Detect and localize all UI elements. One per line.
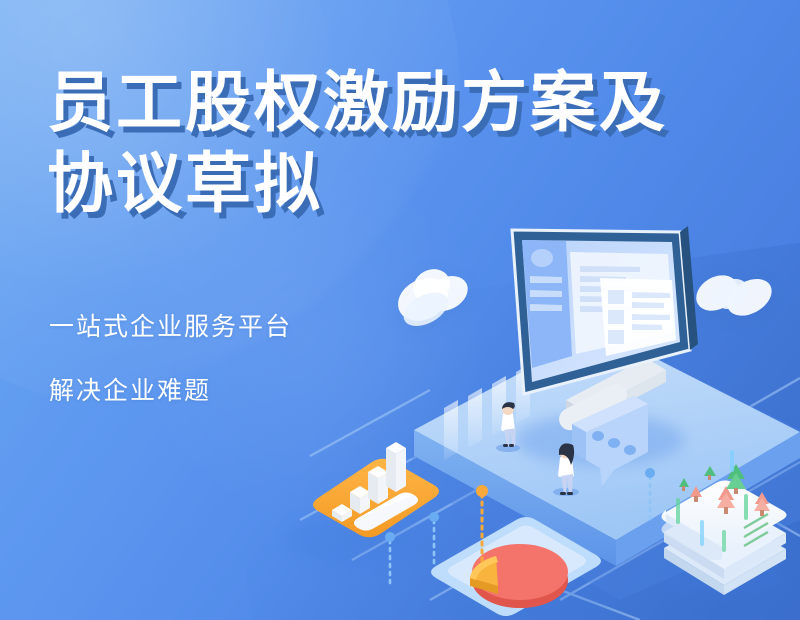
connector-node-blue-2 [429,512,439,522]
connector-node-orange [476,485,488,497]
connector-node-blue-3 [645,468,655,478]
pie-chart [470,544,568,608]
promo-banner: 员工股权激励方案及 协议草拟 一站式企业服务平台 解决企业难题 [0,0,800,620]
page-title: 员工股权激励方案及 协议草拟 [47,62,767,224]
connector-node-blue-1 [385,532,395,542]
subtitle-line-2: 解决企业难题 [49,371,211,407]
screen-content-card [570,252,676,356]
subtitle-line-1: 一站式企业服务平台 [49,307,292,343]
